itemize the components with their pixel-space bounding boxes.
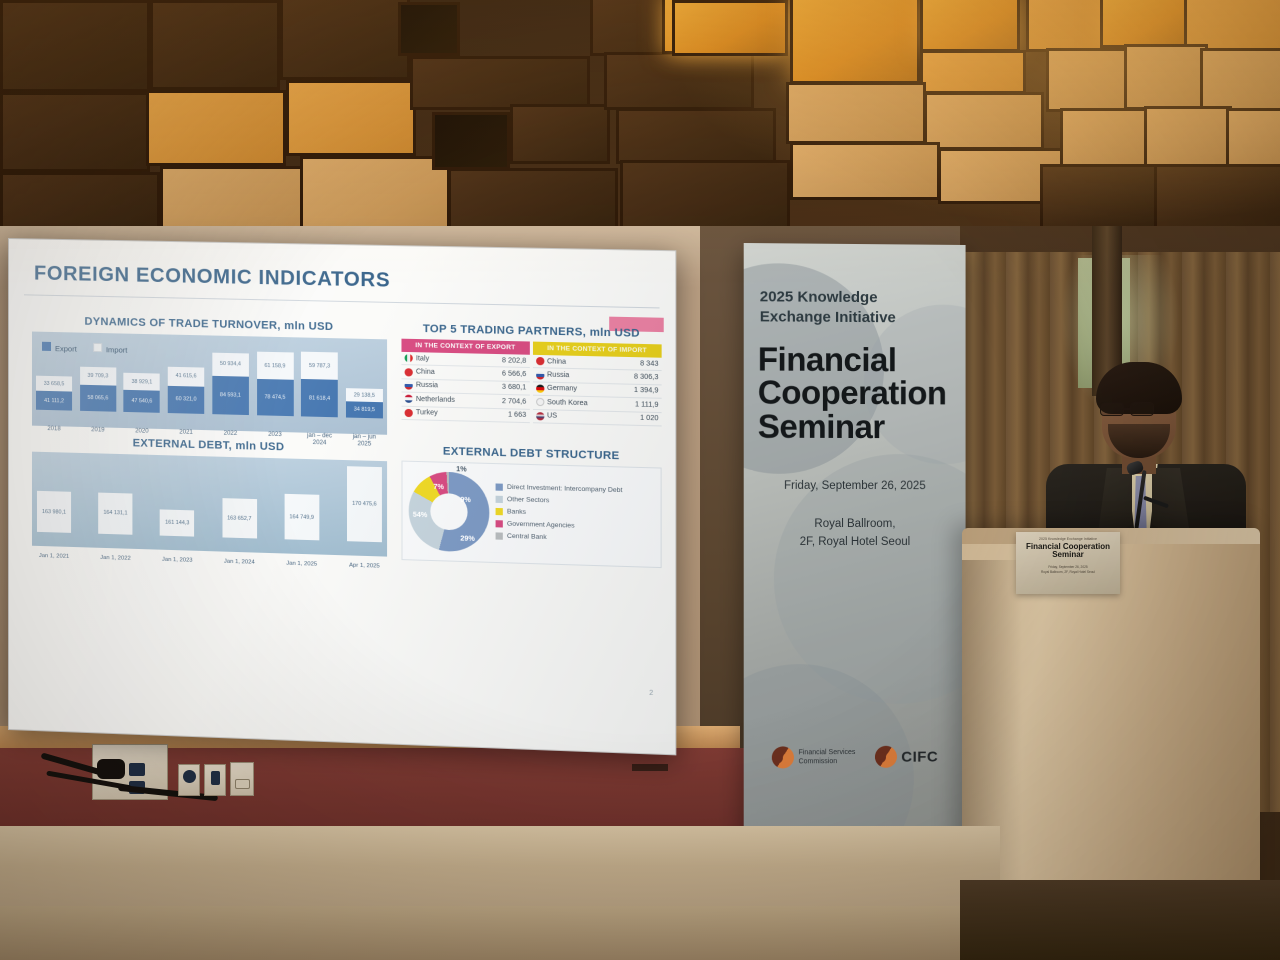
ceiling-panel	[0, 172, 160, 232]
ceiling-panel	[1040, 164, 1160, 232]
x-tick-label: Jan 1, 2025	[284, 561, 319, 568]
trade-turnover-chart: Export Import 33 658,541 111,239 709,358…	[32, 332, 387, 435]
partners-table: IN THE CONTEXT OF EXPORTItaly8 202,8Chin…	[401, 339, 529, 423]
ceiling-recess	[398, 2, 460, 56]
country-name: Netherlands	[416, 396, 455, 404]
bar-export: 41 111,2	[36, 391, 72, 411]
ceiling-panel	[150, 0, 280, 90]
southkorea-flag-icon	[536, 398, 544, 406]
external-debt-section: EXTERNAL DEBT, mln USD 163 980,1164 131,…	[32, 435, 387, 557]
top-partners-section: TOP 5 TRADING PARTNERS, mln USD IN THE C…	[401, 322, 661, 426]
country-name: Russia	[547, 372, 569, 380]
donut-slice-label: 29%	[460, 535, 475, 543]
country-value: 1 394,9	[634, 387, 659, 395]
wall-outlet[interactable]	[178, 764, 200, 796]
bar-import: 33 658,5	[36, 376, 72, 392]
ceiling-light-panel	[1226, 108, 1280, 170]
speaker	[1040, 368, 1250, 548]
ceiling-panel	[280, 0, 410, 80]
bar-group: 163 980,1164 131,1161 144,3163 652,7164 …	[37, 456, 382, 542]
legend-swatch	[496, 532, 503, 539]
russia-flag-icon	[405, 381, 413, 389]
legend-swatch	[496, 508, 503, 515]
country-value: 3 680,1	[502, 384, 526, 392]
country-value: 1 020	[640, 415, 658, 423]
banner-title-line1: Financial	[758, 342, 952, 377]
podium-sign-eyebrow: 2025 Knowledge Exchange Initiative	[1020, 537, 1116, 541]
donut-slice-label: 7%	[433, 484, 443, 491]
country-name: Italy	[416, 355, 429, 362]
debt-structure-title: EXTERNAL DEBT STRUCTURE	[401, 444, 661, 463]
ceiling-panel	[604, 52, 754, 110]
ceiling-light-panel	[1046, 48, 1130, 112]
floor-right	[960, 880, 1280, 960]
bar-stack: 61 158,978 474,5	[257, 349, 294, 417]
ceiling-light-panel	[920, 0, 1020, 52]
bar-stack: 39 709,358 065,6	[80, 345, 116, 412]
bar-import: 59 787,3	[301, 352, 338, 380]
ceiling-light-panel	[924, 92, 1044, 150]
bar: 170 475,6	[347, 466, 382, 542]
country-name: China	[547, 358, 566, 366]
country-name: South Korea	[547, 399, 588, 407]
bar: 163 652,7	[222, 498, 257, 538]
x-axis-labels: Jan 1, 2021Jan 1, 2022Jan 1, 2023Jan 1, …	[37, 553, 382, 570]
us-flag-icon	[536, 412, 544, 420]
banner-eyebrow: 2025 Knowledge Exchange Initiative	[760, 287, 950, 329]
banner-title-line3: Seminar	[758, 409, 952, 443]
bar: 163 980,1	[37, 491, 71, 533]
banner-eyebrow-line2: Exchange Initiative	[760, 308, 950, 330]
podium-sign-title-line2: Seminar	[1020, 551, 1116, 559]
legend-swatch	[496, 520, 503, 527]
ceiling-light-panel	[1144, 106, 1232, 168]
bar-stack: 38 929,147 540,6	[124, 346, 160, 413]
title-divider	[24, 294, 660, 308]
legend-item: Government Agencies	[496, 519, 623, 532]
donut-legend: Direct Investment: Intercompany DebtOthe…	[496, 482, 623, 547]
country-name: US	[547, 413, 557, 420]
legend-item: Central Bank	[496, 531, 623, 545]
bar-export: 34 819,5	[346, 402, 383, 419]
banner-venue-line1: Royal Ballroom,	[756, 516, 954, 534]
ceiling-light-panel	[786, 82, 926, 144]
ceiling-recess	[432, 112, 510, 170]
ceiling-panel-lit	[146, 90, 286, 166]
partners-table: IN THE CONTEXT OF IMPORTChina8 343Russia…	[532, 342, 661, 427]
bar-import: 41 615,6	[168, 367, 204, 387]
donut-chart-wrap: 54%29%9%7%1% Direct Investment: Intercom…	[401, 461, 661, 569]
bar-export: 84 593,1	[212, 376, 249, 416]
china-flag-icon	[536, 357, 544, 365]
cifc-logo: CIFC	[875, 746, 938, 768]
donut-slice-label: 1%	[456, 466, 466, 473]
country-value: 1 111,9	[635, 401, 658, 409]
ceiling-light-panel	[920, 50, 1026, 94]
bar-export: 47 540,6	[124, 390, 160, 413]
slide: FOREIGN ECONOMIC INDICATORS DYNAMICS OF …	[8, 238, 676, 755]
debt-structure-section: EXTERNAL DEBT STRUCTURE 54%29%9%7%1% Dir…	[401, 444, 661, 568]
ceiling-panel	[0, 0, 150, 92]
bar-export: 81 618,4	[301, 379, 338, 417]
legend-label: Direct Investment: Intercompany Debt	[507, 483, 622, 496]
partners-tables: IN THE CONTEXT OF EXPORTItaly8 202,8Chin…	[401, 339, 661, 427]
country-value: 1 663	[508, 412, 526, 420]
bar: 164 131,1	[98, 492, 132, 535]
podium-sign-meta: Friday, September 26, 2025 Royal Ballroo…	[1020, 565, 1116, 575]
ceiling-grid	[0, 0, 1280, 232]
podium-sign-meta-line2: Royal Ballroom, 2F, Royal Hotel Seoul	[1020, 570, 1116, 575]
bar-import: 38 929,1	[124, 373, 160, 392]
ceiling-panel-lit	[286, 80, 416, 156]
ceiling-panel	[448, 168, 618, 232]
turkey-flag-icon	[405, 409, 413, 417]
ceiling-panel	[1154, 164, 1280, 232]
ceiling-light-panel	[1026, 0, 1106, 52]
country-value: 8 306,3	[634, 374, 659, 382]
ceiling-light-panel	[1100, 0, 1190, 48]
projection-screen: FOREIGN ECONOMIC INDICATORS DYNAMICS OF …	[8, 238, 676, 755]
floor	[0, 906, 1000, 960]
legend-label: Other Sectors	[507, 495, 549, 506]
wall-vent	[632, 764, 668, 771]
taegeuk-icon	[771, 746, 793, 768]
fsc-line2: Commission	[799, 758, 838, 765]
donut-chart: 54%29%9%7%1%	[409, 471, 490, 553]
bar-stack: 59 787,381 618,4	[301, 350, 338, 418]
bar-import: 61 158,9	[257, 351, 294, 380]
fsc-line1: Financial Services	[799, 749, 856, 756]
bar-group: 33 658,541 111,239 709,358 065,638 929,1…	[36, 344, 383, 419]
banner-date: Friday, September 26, 2025	[756, 477, 954, 496]
page-title: FOREIGN ECONOMIC INDICATORS	[34, 263, 662, 299]
country-value: 6 566,6	[502, 371, 526, 379]
bar-import: 29 138,5	[346, 388, 383, 402]
x-tick-label: Jan 1, 2024	[222, 559, 257, 566]
cifc-logo-text: CIFC	[901, 748, 938, 765]
legend-item: Other Sectors	[496, 495, 623, 508]
ceiling-light-panel	[1060, 108, 1150, 168]
bar: 161 144,3	[160, 509, 194, 536]
legend-label: Central Bank	[507, 532, 547, 543]
bar-export: 58 065,6	[80, 384, 116, 411]
podium-sign-title: Financial Cooperation Seminar	[1020, 543, 1116, 560]
banner-venue-line2: 2F, Royal Hotel Seoul	[756, 534, 954, 552]
bar-stack: 29 138,534 819,5	[346, 351, 383, 419]
banner-logos: Financial Services Commission CIFC	[744, 745, 966, 768]
country-value: 2 704,6	[502, 398, 526, 406]
legend-item: Direct Investment: Intercompany Debt	[496, 482, 623, 495]
donut-slice-label: 54%	[413, 512, 427, 520]
fsc-logo: Financial Services Commission	[771, 746, 855, 769]
socket[interactable]	[129, 763, 145, 776]
fsc-logo-text: Financial Services Commission	[799, 748, 856, 767]
light-switch[interactable]	[230, 762, 254, 796]
italy-flag-icon	[405, 354, 413, 362]
legend-label: Government Agencies	[507, 519, 575, 531]
banner-venue: Royal Ballroom, 2F, Royal Hotel Seoul	[756, 516, 954, 552]
x-tick-label: Jan 1, 2023	[160, 557, 194, 564]
banner-title: Financial Cooperation Seminar	[758, 342, 952, 444]
germany-flag-icon	[536, 384, 544, 392]
netherlands-flag-icon	[405, 395, 413, 403]
country-value: 8 202,8	[502, 357, 526, 365]
table-row: Turkey1 663	[401, 406, 529, 423]
page-number: 2	[649, 690, 653, 697]
russia-flag-icon	[536, 371, 544, 379]
bar-stack: 50 934,484 593,1	[212, 348, 249, 415]
bar-export: 60 321,0	[168, 386, 204, 414]
table-row: US1 020	[532, 409, 661, 426]
ceiling-panel	[510, 104, 610, 164]
external-debt-chart: 163 980,1164 131,1161 144,3163 652,7164 …	[32, 452, 387, 557]
ceiling-panel-lit	[160, 166, 310, 232]
bar: 164 749,9	[284, 494, 319, 540]
ceiling-panel	[410, 56, 590, 110]
event-banner: 2025 Knowledge Exchange Initiative Finan…	[744, 243, 966, 865]
country-name: Germany	[547, 385, 577, 393]
bar-stack: 41 615,660 321,0	[168, 347, 204, 414]
glasses-icon	[1100, 402, 1162, 416]
legend-swatch	[496, 496, 503, 503]
bar-import: 50 934,4	[212, 352, 249, 376]
wall-outlet[interactable]	[204, 764, 226, 796]
country-value: 8 343	[640, 360, 658, 368]
ceiling-light-panel	[1200, 48, 1280, 112]
legend-swatch	[496, 483, 503, 490]
legend-label: Banks	[507, 507, 526, 517]
ceiling	[0, 0, 1280, 232]
x-tick-label: Apr 1, 2025	[347, 562, 382, 569]
ceiling-panel-lit	[300, 156, 450, 232]
taegeuk-icon	[875, 746, 897, 768]
trade-turnover-title: DYNAMICS OF TRADE TURNOVER, mln USD	[32, 315, 387, 335]
ceiling-light-panel	[1124, 44, 1208, 110]
country-name: Turkey	[416, 409, 438, 417]
ceiling-panel	[616, 108, 776, 164]
podium-sign: 2025 Knowledge Exchange Initiative Finan…	[1016, 532, 1120, 594]
ceiling-light-panel	[672, 0, 788, 56]
donut-slice-label: 9%	[460, 497, 470, 504]
bar-import: 39 709,3	[80, 366, 116, 385]
ceiling-panel	[0, 92, 150, 172]
legend-item: Banks	[496, 507, 623, 520]
trade-turnover-section: DYNAMICS OF TRADE TURNOVER, mln USD Expo…	[32, 315, 387, 435]
china-flag-icon	[405, 368, 413, 376]
x-tick-label: Jan 1, 2021	[37, 553, 71, 560]
country-name: Russia	[416, 382, 438, 390]
x-tick-label: Jan 1, 2022	[98, 555, 132, 562]
banner-title-line2: Cooperation	[758, 376, 952, 411]
banner-eyebrow-line1: 2025 Knowledge	[760, 287, 950, 309]
bar-export: 78 474,5	[257, 379, 294, 416]
ceiling-light-panel	[790, 0, 920, 84]
ceiling-light-panel	[790, 142, 940, 200]
bar-stack: 33 658,541 111,2	[36, 344, 72, 411]
conference-hall-scene: FOREIGN ECONOMIC INDICATORS DYNAMICS OF …	[0, 0, 1280, 960]
country-name: China	[416, 369, 435, 377]
ceiling-panel	[620, 160, 790, 232]
